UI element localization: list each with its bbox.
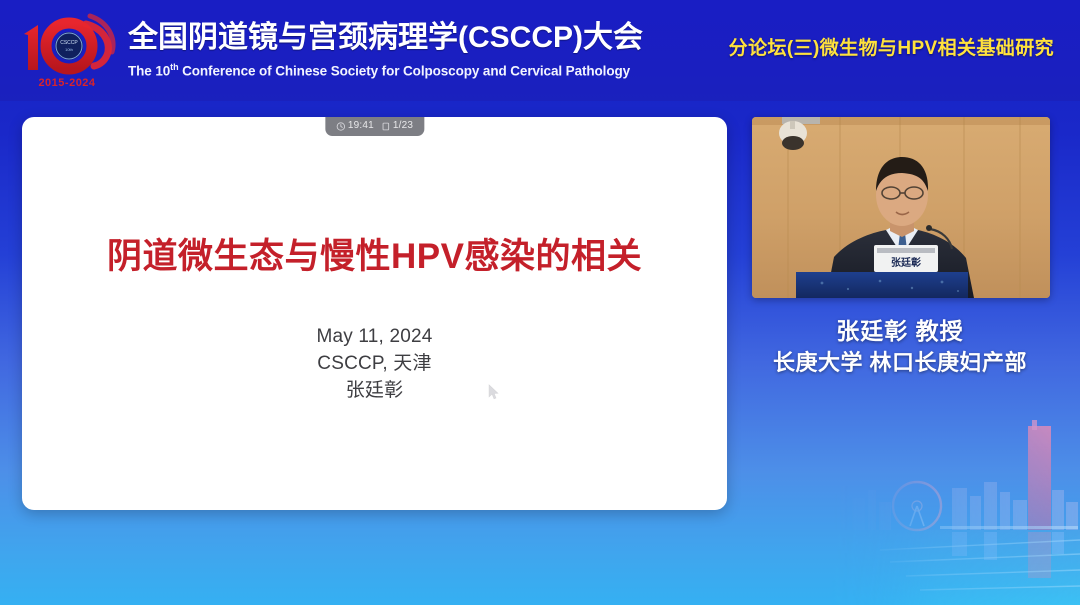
slide-subtitle-author: 张廷彰 [22, 377, 727, 404]
slide-subtitle-date: May 11, 2024 [22, 323, 727, 350]
speaker-affiliation: 长庚大学 林口长庚妇产部 [740, 347, 1060, 379]
elapsed-time-item: 19:41 [336, 121, 374, 131]
session-track-title: 分论坛(三)微生物与HPV相关基础研究 [729, 33, 1054, 60]
elapsed-time-value: 19:41 [348, 121, 374, 131]
conference-header-bar: CSCCP 10th 2015-2024 全国阴道镜与宫颈病理学(CSCCP)大… [0, 0, 1080, 101]
broadcast-stage: CSCCP 10th 2015-2024 全国阴道镜与宫颈病理学(CSCCP)大… [0, 0, 1080, 605]
conference-title-en: The 10th Conference of Chinese Society f… [128, 57, 643, 82]
presentation-slide-panel[interactable]: 19:41 1/23 阴道微生态与慢性HPV感染的相关 May 11, 2024… [22, 117, 727, 510]
svg-text:10th: 10th [65, 47, 73, 52]
svg-text:CSCCP: CSCCP [60, 40, 78, 46]
title-en-prefix: The 10 [128, 64, 170, 79]
slide-page-item: 1/23 [381, 121, 413, 131]
header-brand-group: CSCCP 10th 2015-2024 全国阴道镜与宫颈病理学(CSCCP)大… [14, 8, 643, 92]
title-en-rest: Conference of Chinese Society for Colpos… [178, 64, 630, 79]
live-camera-feed[interactable]: 张廷彰 [752, 117, 1050, 298]
page-icon [381, 122, 390, 131]
slide-page-value: 1/23 [393, 121, 413, 131]
speaker-name: 张廷彰 教授 [740, 315, 1060, 347]
logo-years-label: 2015-2024 [24, 77, 110, 89]
conference-title-cn: 全国阴道镜与宫颈病理学(CSCCP)大会 [128, 20, 643, 56]
svg-text:张廷彰: 张廷彰 [891, 256, 921, 269]
clock-icon [336, 122, 345, 131]
header-titles: 全国阴道镜与宫颈病理学(CSCCP)大会 The 10th Conference… [128, 18, 643, 82]
podium-nameplate: 张廷彰 [874, 245, 938, 272]
slide-main-title: 阴道微生态与慢性HPV感染的相关 [22, 235, 727, 279]
slide-subtitle-venue: CSCCP, 天津 [22, 350, 727, 377]
camera-feed-image: 张廷彰 [752, 117, 1050, 298]
slide-subtitle-block: May 11, 2024 CSCCP, 天津 张廷彰 [22, 323, 727, 404]
slide-status-badge: 19:41 1/23 [325, 117, 424, 136]
csccp-anniversary-logo: CSCCP 10th 2015-2024 [14, 8, 118, 92]
speaker-caption: 张廷彰 教授 长庚大学 林口长庚妇产部 [740, 315, 1060, 379]
tianjin-skyline-decoration [820, 390, 1080, 605]
